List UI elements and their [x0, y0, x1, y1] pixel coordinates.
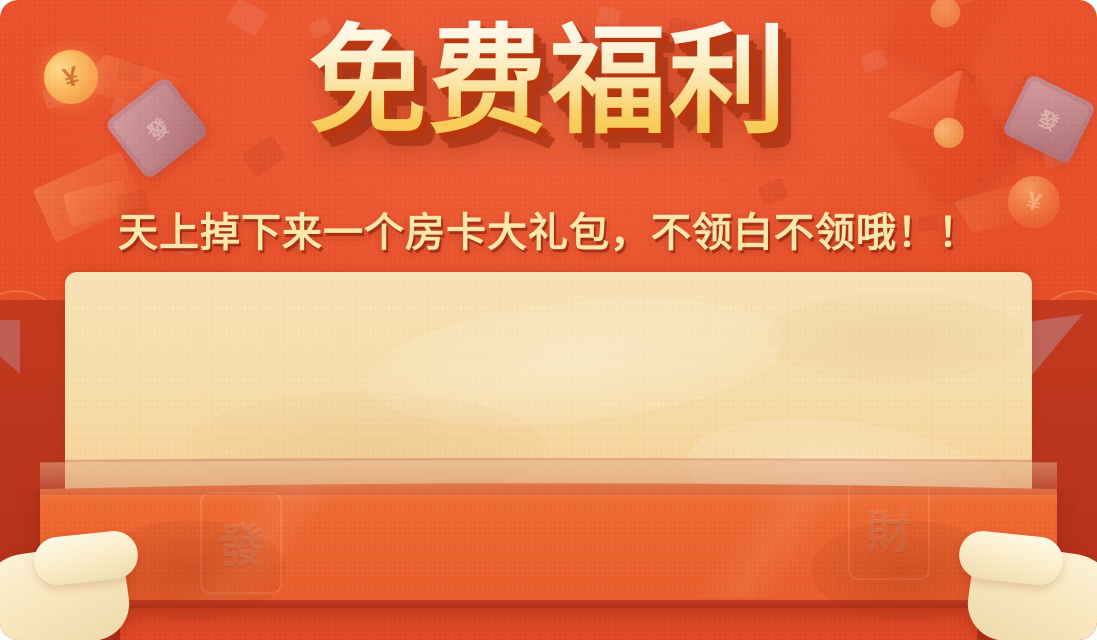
card-smudge — [765, 292, 1025, 382]
promo-banner: ¥ 發 發 ¥ — [0, 0, 1097, 640]
envelope-edge-highlight — [40, 448, 1057, 504]
page-title: 免费福利 — [308, 18, 788, 145]
headline-container: 免费福利 — [0, 18, 1097, 145]
page-subtitle: 天上掉下来一个房卡大礼包，不领白不领哦！！ — [0, 200, 1097, 258]
